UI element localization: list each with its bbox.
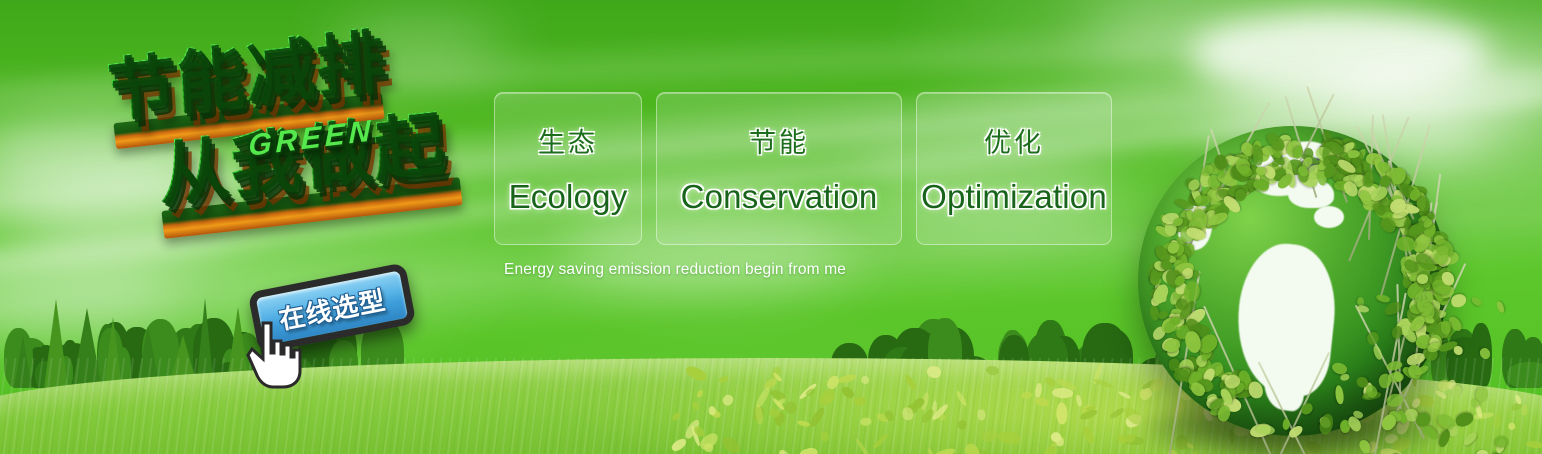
feature-card-ecology[interactable]: 生态 Ecology: [494, 92, 642, 245]
falling-leaf: [1470, 295, 1483, 308]
tagline-text: Energy saving emission reduction begin f…: [504, 261, 846, 279]
feature-card-en-label: Conservation: [681, 178, 878, 216]
continent-west-patch: [1173, 201, 1217, 254]
feature-card-list: 生态 Ecology 节能 Conservation 优化 Optimizati…: [494, 92, 1112, 245]
cloud-puff: [1330, 52, 1542, 130]
feature-card-en-label: Optimization: [921, 178, 1107, 216]
feature-card-conservation[interactable]: 节能 Conservation: [656, 92, 902, 245]
falling-leaf: [1450, 294, 1466, 308]
cloud-puff: [1190, 10, 1490, 100]
fallen-leaf: [1056, 402, 1067, 424]
fallen-leaf: [859, 418, 871, 426]
eco-banner: 节能减排 GREEN 从我做起 在线选型 生态 Ecology 节能 Conse…: [0, 0, 1542, 454]
headline-logo: 节能减排 GREEN 从我做起: [96, 34, 486, 266]
continent-arctic-cap: [1298, 158, 1332, 176]
continent-na-extension: [1288, 178, 1334, 208]
leafy-earth-globe: [1138, 126, 1448, 436]
feature-card-optimization[interactable]: 优化 Optimization: [916, 92, 1112, 245]
fallen-leaf: [1423, 451, 1429, 454]
falling-leaf: [1454, 346, 1464, 355]
feature-card-cn-label: 生态: [538, 121, 598, 160]
cloud-puff: [1080, 4, 1260, 60]
feature-card-en-label: Ecology: [509, 178, 628, 216]
falling-leaf: [1447, 314, 1464, 333]
falling-leaf: [1496, 301, 1506, 314]
falling-leaf: [1438, 339, 1458, 353]
feature-card-cn-label: 优化: [984, 121, 1044, 160]
feature-card-cn-label: 节能: [749, 121, 809, 160]
hand-pointer-icon: [243, 315, 307, 391]
globe-sphere: [1138, 126, 1448, 436]
fallen-leaf: [1493, 413, 1501, 427]
continent-caribbean: [1314, 206, 1344, 228]
